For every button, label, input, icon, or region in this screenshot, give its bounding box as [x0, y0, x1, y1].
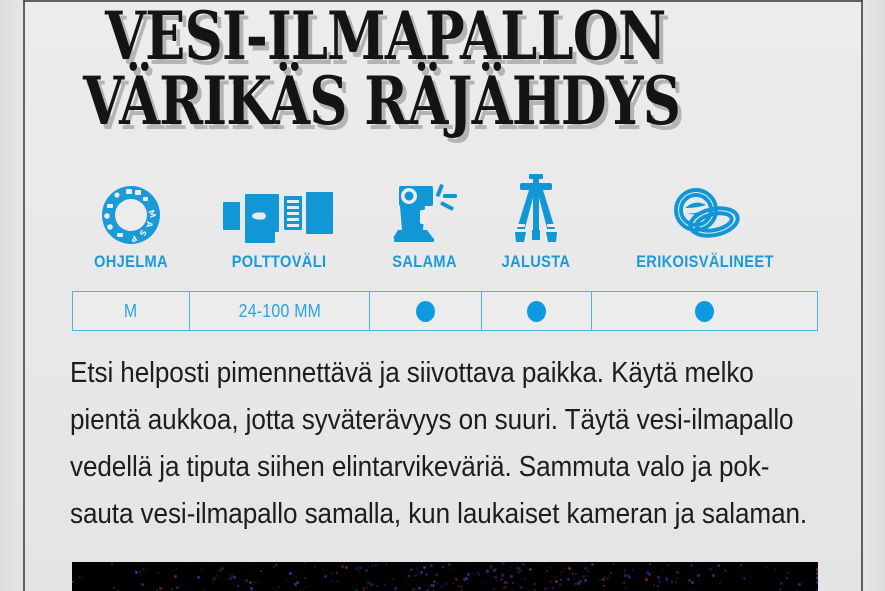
spec-column-polttovali: POLTTOVÄLI: [189, 170, 369, 272]
photo-speck: [365, 569, 368, 572]
photo-speck: [455, 578, 458, 581]
camera-mode-dial-icon: M A S P: [100, 170, 162, 246]
photo-speck: [142, 568, 145, 571]
photo-speck: [802, 583, 803, 584]
photo-speck: [712, 574, 715, 577]
photo-speck: [479, 575, 480, 576]
photo-speck: [437, 583, 438, 584]
photo-speck: [676, 577, 678, 579]
photo-speck: [786, 577, 788, 579]
page-title: VESI-ILMAPALLON VÄRIKÄS RÄJÄHDYS: [105, 8, 865, 130]
photo-speck: [407, 582, 408, 583]
photo-speck: [560, 572, 561, 573]
photo-speck: [426, 581, 427, 582]
photo-speck: [336, 580, 339, 583]
photo-speck: [304, 577, 306, 579]
photo-speck: [171, 588, 173, 590]
photo-speck: [500, 573, 501, 574]
photo-speck: [658, 580, 661, 583]
photo-speck: [477, 586, 478, 587]
photo-speck: [567, 578, 570, 581]
photo-speck: [571, 569, 572, 570]
photo-speck: [500, 579, 502, 581]
photo-speck: [606, 577, 609, 580]
photo-speck: [420, 571, 423, 574]
page-left-edge-strip: [0, 0, 23, 591]
photo-speck: [660, 571, 661, 572]
photo-speck: [209, 564, 210, 565]
photo-speck: [382, 563, 383, 564]
photo-speck: [564, 571, 565, 572]
photo-speck: [787, 572, 789, 574]
photo-speck: [385, 563, 388, 566]
photo-speck: [617, 570, 618, 571]
photo-speck: [520, 586, 523, 589]
photo-speck: [540, 563, 541, 564]
photo-speck: [559, 583, 562, 586]
photo-speck: [372, 562, 373, 563]
photo-speck: [564, 568, 565, 569]
photo-speck: [320, 587, 321, 588]
photo-speck: [599, 580, 600, 581]
photo-speck: [433, 580, 436, 583]
photo-speck: [512, 589, 513, 590]
spec-icon-row: M A S P: [72, 170, 818, 272]
photo-speck: [765, 566, 767, 568]
photo-speck: [675, 581, 678, 584]
photo-speck: [546, 570, 548, 572]
photo-speck: [216, 575, 218, 577]
spec-label-salama: SALAMA: [393, 252, 458, 272]
photo-speck: [719, 582, 721, 584]
photo-speck: [370, 583, 373, 586]
photo-speck: [512, 582, 514, 584]
photo-speck: [304, 562, 306, 564]
photo-speck: [610, 572, 612, 574]
photo-speck: [295, 576, 297, 578]
photo-speck: [90, 569, 91, 570]
photo-speck: [287, 580, 288, 581]
photo-speck: [375, 564, 377, 566]
photo-speck: [276, 564, 278, 566]
photo-speck: [667, 564, 669, 566]
photo-speck: [245, 579, 248, 582]
photo-speck: [482, 582, 483, 583]
photo-speck: [503, 586, 506, 589]
photo-speck: [141, 575, 142, 576]
photo-speck: [250, 574, 251, 575]
spec-dot-erikoisvalineet: [695, 301, 714, 322]
photo-speck: [584, 579, 587, 582]
photo-speck: [534, 583, 536, 585]
photo-speck: [780, 582, 783, 585]
photo-speck: [405, 585, 406, 586]
photo-speck: [441, 586, 443, 588]
photo-speck: [141, 563, 142, 564]
photo-speck: [743, 577, 746, 580]
photo-speck: [697, 574, 700, 577]
photo-speck: [314, 566, 316, 568]
spec-table: M 24-100 MM: [72, 291, 818, 331]
photo-speck: [504, 563, 505, 564]
photo-speck: [511, 566, 512, 567]
photo-speck: [233, 576, 236, 579]
photo-speck: [741, 573, 742, 574]
photo-speck: [113, 587, 115, 589]
photo-speck: [495, 568, 497, 570]
photo-speck: [145, 589, 146, 590]
photo-speck: [472, 573, 473, 574]
photo-speck: [176, 568, 177, 569]
photo-speck: [371, 565, 373, 567]
photo-speck: [709, 568, 712, 571]
spec-label-ohjelma: OHJELMA: [94, 252, 168, 272]
photo-speck: [690, 564, 693, 567]
photo-speck: [260, 570, 262, 572]
photo-speck: [582, 575, 585, 578]
photo-speck: [418, 570, 419, 571]
photo-speck: [78, 576, 81, 579]
spec-dot-jalusta: [527, 301, 546, 322]
photo-speck: [356, 585, 357, 586]
page-title-line-1: VESI-ILMAPALLON: [105, 8, 713, 65]
photo-speck: [573, 578, 574, 579]
photo-speck: [367, 581, 370, 584]
photo-speck: [529, 568, 532, 571]
spec-cell-jalusta: [482, 292, 592, 330]
photo-speck: [135, 571, 138, 574]
photo-speck: [190, 584, 191, 585]
photo-speck: [491, 567, 493, 569]
photo-speck: [249, 581, 252, 584]
photo-speck: [330, 574, 331, 575]
photo-speck: [502, 575, 504, 577]
photo-speck: [492, 576, 493, 577]
photo-speck: [298, 573, 299, 574]
photo-speck: [430, 564, 433, 567]
photo-speck: [659, 563, 660, 564]
photo-speck: [602, 578, 605, 581]
photo-speck: [289, 572, 292, 575]
photo-speck: [278, 586, 280, 588]
photo-speck: [360, 573, 361, 574]
photo-speck: [341, 565, 344, 568]
photo-speck: [744, 573, 745, 574]
photo-speck: [649, 563, 651, 565]
photo-speck: [415, 588, 416, 589]
photo-speck: [632, 569, 634, 571]
photo-speck: [552, 587, 554, 589]
photo-speck: [662, 568, 663, 569]
photo-speck: [273, 566, 275, 568]
photo-speck: [774, 569, 776, 571]
photo-speck: [550, 581, 552, 583]
photo-speck: [331, 580, 333, 582]
photo-speck: [197, 576, 200, 579]
photo-speck: [516, 565, 517, 566]
photo-speck: [306, 586, 308, 588]
photo-speck: [624, 574, 627, 577]
photo-speck: [254, 581, 257, 584]
article-photo: [72, 562, 818, 591]
photo-speck: [524, 578, 526, 580]
photo-speck: [425, 573, 428, 576]
photo-speck: [471, 580, 472, 581]
photo-speck: [458, 585, 460, 587]
photo-speck: [414, 574, 417, 577]
photo-speck: [84, 570, 85, 571]
photo-speck: [247, 565, 248, 566]
photo-speck: [496, 575, 497, 576]
photo-speck: [237, 585, 239, 587]
photo-speck: [496, 580, 497, 581]
photo-speck: [345, 566, 348, 569]
photo-speck: [574, 583, 576, 585]
photo-speck: [410, 568, 413, 571]
photo-speck: [508, 571, 509, 572]
photo-speck: [435, 573, 438, 576]
photo-speck: [560, 579, 562, 581]
photo-speck: [555, 580, 558, 583]
photo-speck: [477, 572, 480, 575]
photo-speck: [572, 573, 574, 575]
photo-speck: [572, 586, 573, 587]
photo-speck: [665, 578, 668, 581]
photo-speck: [657, 576, 660, 579]
photo-speck: [467, 573, 469, 575]
body-copy: Etsi helposti pimennettävä ja siivottava…: [70, 350, 830, 538]
photo-speck: [478, 570, 479, 571]
photo-speck: [219, 569, 222, 572]
photo-speck: [647, 587, 648, 588]
photo-speck: [517, 571, 520, 574]
photo-speck: [653, 584, 655, 586]
spec-cell-erikoisvalineet: [592, 292, 817, 330]
filters-icon: [666, 170, 744, 246]
magazine-page: VESI-ILMAPALLON VÄRIKÄS RÄJÄHDYS M A S P: [0, 0, 885, 591]
photo-speck: [718, 565, 720, 567]
spec-label-polttovali: POLTTOVÄLI: [232, 252, 327, 272]
photo-speck: [388, 578, 389, 579]
photo-speck: [628, 576, 631, 579]
body-copy-line-3: vedellä ja tiputa siihen elintarvikeväri…: [70, 444, 754, 491]
photo-speck: [695, 582, 696, 583]
photo-speck: [450, 570, 451, 571]
spec-label-jalusta: JALUSTA: [502, 252, 571, 272]
photo-speck: [408, 575, 410, 577]
photo-speck: [603, 585, 605, 587]
photo-speck: [582, 563, 583, 564]
photo-speck: [490, 565, 492, 567]
photo-speck: [645, 578, 648, 581]
spec-column-ohjelma: M A S P: [72, 170, 189, 272]
photo-speck: [816, 582, 818, 584]
photo-speck: [84, 565, 85, 566]
photo-speck: [157, 572, 159, 574]
photo-speck: [582, 583, 583, 584]
photo-speck: [671, 581, 673, 583]
photo-speck: [354, 588, 355, 589]
photo-speck: [591, 563, 594, 566]
photo-speck: [358, 566, 361, 569]
photo-speck: [331, 572, 333, 574]
photo-speck: [465, 562, 466, 563]
photo-speck: [798, 583, 801, 586]
photo-speck: [229, 577, 232, 580]
spec-dot-salama: [416, 301, 435, 322]
photo-speck: [229, 574, 230, 575]
photo-speck: [212, 579, 214, 581]
photo-speck: [324, 575, 327, 578]
photo-speck: [113, 568, 114, 569]
photo-speck: [251, 564, 252, 565]
page-left-edge-rule: [23, 0, 25, 591]
photo-speck: [111, 563, 113, 565]
photo-speck: [816, 571, 818, 574]
spec-column-salama: SALAMA: [369, 170, 481, 272]
photo-speck: [465, 577, 468, 580]
body-copy-line-1: Etsi helposti pimennettävä ja siivottava…: [70, 350, 754, 397]
photo-speck: [72, 581, 74, 583]
photo-speck: [683, 580, 684, 581]
photo-speck: [176, 586, 179, 589]
photo-speck: [565, 577, 566, 578]
photo-speck: [468, 583, 469, 584]
photo-speck: [587, 568, 588, 569]
photo-speck: [676, 571, 679, 574]
photo-speck: [461, 586, 463, 588]
spec-cell-polttovali: 24-100 MM: [190, 292, 370, 330]
photo-speck: [751, 577, 752, 578]
photo-speck: [625, 587, 627, 589]
photo-speck: [386, 569, 387, 570]
photo-speck: [493, 588, 495, 590]
photo-speck: [445, 565, 446, 566]
photo-speck: [587, 570, 589, 572]
photo-speck: [423, 566, 426, 569]
photo-speck: [753, 574, 754, 575]
photo-speck: [453, 583, 454, 584]
spec-value-polttovali: 24-100 MM: [238, 301, 321, 322]
photo-speck: [448, 563, 451, 566]
photo-speck: [657, 585, 659, 587]
photo-speck: [393, 581, 394, 582]
photo-speck: [296, 581, 299, 584]
photo-speck: [362, 587, 365, 590]
photo-speck: [575, 573, 577, 575]
spec-cell-salama: [370, 292, 482, 330]
photo-speck: [724, 569, 727, 572]
camera-lens-icon: [223, 170, 335, 246]
photo-speck: [577, 583, 579, 585]
page-title-line-2: VÄRIKÄS RÄJÄHDYS: [83, 73, 709, 130]
photo-speck: [366, 587, 368, 589]
photo-speck: [442, 566, 444, 568]
photo-speck: [159, 587, 162, 590]
photo-speck: [455, 568, 456, 569]
photo-speck: [544, 587, 547, 590]
spec-cell-ohjelma: M: [73, 292, 190, 330]
body-copy-line-4: sauta vesi-ilmapallo samalla, kun laukai…: [70, 491, 754, 538]
photo-speck: [139, 571, 141, 573]
photo-speck: [141, 583, 144, 586]
photo-speck: [720, 579, 721, 580]
photo-speck: [418, 587, 421, 590]
photo-speck: [585, 562, 586, 563]
photo-speck: [323, 569, 324, 570]
spec-column-erikoisvalineet: ERIKOISVÄLINEET: [591, 170, 818, 272]
flash-icon: [389, 170, 461, 246]
photo-speck: [432, 584, 435, 587]
photo-speck: [623, 582, 625, 584]
photo-speck: [572, 572, 573, 573]
photo-speck: [376, 585, 378, 587]
body-copy-line-2: pientä aukkoa, jotta syväterävyys on suu…: [70, 397, 754, 444]
photo-speck: [510, 575, 513, 578]
page-right-edge-strip: [863, 0, 885, 591]
photo-speck: [394, 587, 397, 590]
photo-speck: [549, 588, 550, 589]
tripod-icon: [507, 170, 565, 246]
spec-column-jalusta: JALUSTA: [481, 170, 591, 272]
photo-speck: [384, 584, 386, 586]
photo-speck: [200, 569, 201, 570]
photo-speck: [504, 581, 507, 584]
photo-speck: [551, 567, 552, 568]
photo-speck: [779, 588, 781, 590]
photo-speck: [445, 583, 447, 585]
photo-speck: [336, 572, 338, 574]
photo-speck: [691, 581, 694, 584]
spec-value-ohjelma: M: [124, 301, 137, 322]
photo-speck: [392, 578, 394, 580]
photo-speck: [740, 564, 742, 566]
photo-speck: [522, 563, 525, 566]
spec-label-erikoisvalineet: ERIKOISVÄLINEET: [636, 252, 774, 272]
photo-speck: [507, 582, 509, 584]
photo-speck: [185, 567, 186, 568]
photo-speck: [698, 568, 699, 569]
